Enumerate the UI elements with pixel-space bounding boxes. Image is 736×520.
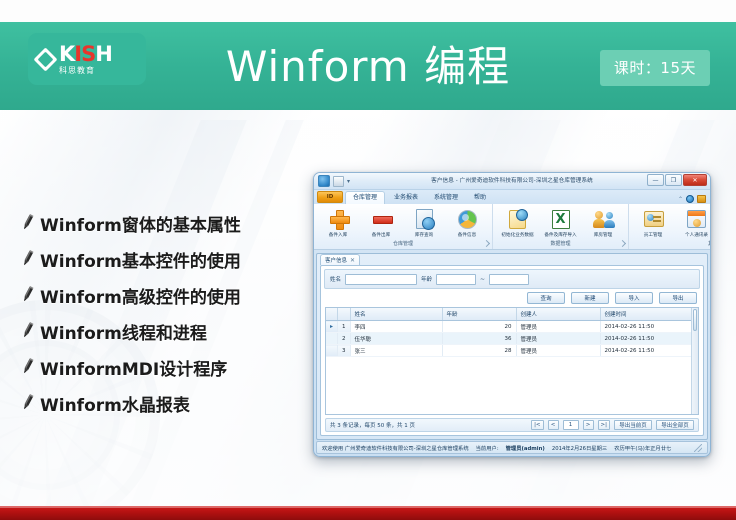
- application-menu-button[interactable]: ID: [317, 191, 343, 203]
- pencil-bullet-icon: [18, 250, 40, 268]
- ribbon-button-label: 员工管理: [644, 231, 662, 237]
- column-header-name[interactable]: 姓名: [350, 308, 442, 321]
- course-hours-badge: 课时：15天: [600, 50, 710, 86]
- last-page-button[interactable]: >|: [598, 420, 610, 430]
- list-item: Winform基本控件的使用: [18, 244, 318, 274]
- dialog-launcher-icon[interactable]: [619, 240, 626, 247]
- cell-age: 20: [442, 321, 516, 333]
- ribbon-group-data: 初始化业务数据 X 备件及库存导入 库房管理 数据管理: [492, 204, 628, 249]
- ribbon-button-label: 备件入库: [329, 231, 347, 237]
- people-icon: [593, 208, 615, 230]
- row-selector[interactable]: [326, 333, 338, 345]
- flag-icon[interactable]: [697, 195, 706, 203]
- pencil-bullet-icon: [18, 358, 40, 376]
- brand-logo-wordmark: KISH 科思教育: [59, 44, 112, 75]
- cell-created-time: 2014-02-26 11:50: [600, 333, 697, 345]
- customer-info-panel: 姓名 年龄 ~ 查询 新建 导入 导出: [320, 265, 704, 436]
- dialog-launcher-icon[interactable]: [483, 240, 490, 247]
- doc-tab-customer-info[interactable]: 客户信息 ✕: [320, 254, 360, 266]
- pencil-bullet-icon: [18, 286, 40, 304]
- ribbon-group-title: 仓库管理: [314, 239, 492, 249]
- import-button[interactable]: 导入: [615, 292, 653, 304]
- ribbon-button-label: 个人通讯录: [685, 231, 708, 237]
- row-index: 2: [338, 333, 351, 345]
- table-row[interactable]: 3 张三 28 管理员 2014-02-26 11:50: [326, 345, 698, 357]
- prev-page-button[interactable]: <: [548, 420, 559, 430]
- ribbon-right-controls[interactable]: ⌃: [678, 195, 706, 203]
- column-header-age[interactable]: 年龄: [442, 308, 516, 321]
- new-button[interactable]: 新建: [571, 292, 609, 304]
- brand-logo-subtitle: 科思教育: [59, 67, 112, 75]
- export-button[interactable]: 导出: [659, 292, 697, 304]
- table-row[interactable]: 2 伍华聪 36 管理员 2014-02-26 11:50: [326, 333, 698, 345]
- row-selector[interactable]: [326, 321, 338, 333]
- board-person-icon: [686, 208, 708, 230]
- page-number-input[interactable]: 1: [563, 420, 579, 430]
- cell-age: 36: [442, 333, 516, 345]
- pagination-bar: 共 3 条记录，每页 50 条，共 1 页 |< < 1 > >| 导出当前页 …: [325, 418, 699, 432]
- list-item: Winform高级控件的使用: [18, 280, 318, 310]
- table-row[interactable]: 1 李四 20 管理员 2014-02-26 11:50: [326, 321, 698, 333]
- ribbon-button-label: 备件出库: [372, 231, 390, 237]
- document-search-icon: [414, 208, 436, 230]
- ribbon-button-part-info[interactable]: 备件信息: [447, 206, 488, 239]
- footer-bar: [0, 506, 736, 520]
- minimize-button[interactable]: —: [647, 174, 664, 186]
- first-page-button[interactable]: |<: [531, 420, 543, 430]
- query-button[interactable]: 查询: [527, 292, 565, 304]
- row-index-header: [338, 308, 351, 321]
- status-welcome-text: 欢迎使用 广州爱奇迪软件科技有限公司-深圳之星仓库管理系统: [322, 444, 469, 452]
- ribbon-group-warehouse: 备件入库 备件出库 库存查询 备件信息 仓库管理: [314, 204, 492, 249]
- topic-label: Winform基本控件的使用: [40, 247, 241, 272]
- column-header-creator[interactable]: 创建人: [516, 308, 600, 321]
- ribbon-button-label: 库房管理: [594, 231, 612, 237]
- topic-label: Winform窗体的基本属性: [40, 211, 241, 236]
- pencil-bullet-icon: [18, 322, 40, 340]
- tab-help[interactable]: 帮助: [467, 192, 493, 204]
- doc-tab-label: 客户信息: [325, 256, 347, 264]
- close-button[interactable]: ✕: [683, 174, 707, 186]
- status-date: 2014年2月26日星期三: [552, 444, 607, 452]
- ribbon-body: 备件入库 备件出库 库存查询 备件信息 仓库管理: [314, 204, 710, 250]
- maximize-button[interactable]: ❐: [665, 174, 682, 186]
- cell-age: 28: [442, 345, 516, 357]
- close-icon[interactable]: ✕: [350, 257, 355, 264]
- search-filter-bar: 姓名 年龄 ~: [324, 269, 700, 289]
- status-lunar-date: 农历甲午(马)年正月廿七: [614, 444, 671, 452]
- cell-creator: 管理员: [516, 321, 600, 333]
- id-card-icon: [643, 208, 665, 230]
- app-status-bar: 欢迎使用 广州爱奇迪软件科技有限公司-深圳之星仓库管理系统 当前用户: 管理员(…: [316, 441, 708, 454]
- slide-canvas: Winform 编程 KISH 科思教育 课时：15天 Winform窗体的基本…: [0, 0, 736, 520]
- window-controls[interactable]: — ❐ ✕: [647, 174, 707, 186]
- cell-name: 张三: [350, 345, 442, 357]
- pencil-bullet-icon: [18, 214, 40, 232]
- note-refresh-icon: [507, 208, 529, 230]
- name-filter-input[interactable]: [345, 274, 417, 285]
- topic-label: Winform线程和进程: [40, 319, 207, 344]
- ribbon-button-label: 库存查询: [415, 231, 433, 237]
- list-item: WinformMDI设计程序: [18, 352, 318, 382]
- help-icon[interactable]: [686, 195, 694, 203]
- cell-creator: 管理员: [516, 345, 600, 357]
- cell-created-time: 2014-02-26 11:50: [600, 345, 697, 357]
- row-index: 3: [338, 345, 351, 357]
- ribbon-group-title: 其他管理: [629, 239, 711, 249]
- tab-warehouse-management[interactable]: 仓库管理: [345, 191, 385, 204]
- excel-icon: X: [550, 208, 572, 230]
- ribbon-group-other: 员工管理 个人通讯录 公共通讯录 客户管理 其他管理: [628, 204, 711, 249]
- status-user-label: 当前用户:: [476, 444, 499, 452]
- ribbon-tabstrip[interactable]: ID 仓库管理 业务报表 系统管理 帮助 ⌃: [314, 190, 710, 204]
- list-item: Winform窗体的基本属性: [18, 208, 318, 238]
- next-page-button[interactable]: >: [583, 420, 594, 430]
- cell-created-time: 2014-02-26 11:50: [600, 321, 697, 333]
- list-item: Winform水晶报表: [18, 388, 318, 418]
- status-user-value: 管理员(admin): [506, 444, 545, 452]
- ribbon-button-label: 备件信息: [458, 231, 476, 237]
- ribbon-group-title: 数据管理: [493, 239, 628, 249]
- list-item: Winform线程和进程: [18, 316, 318, 346]
- ribbon-button-import-stock[interactable]: X 备件及库存导入: [540, 206, 581, 239]
- pencil-bullet-icon: [18, 394, 40, 412]
- ribbon-button-label: 初始化业务数据: [501, 231, 533, 237]
- name-filter-label: 姓名: [330, 275, 341, 283]
- age-filter-label: 年龄: [421, 275, 432, 283]
- cell-creator: 管理员: [516, 333, 600, 345]
- customer-data-grid[interactable]: 姓名 年龄 创建人 创建时间 1 李四 20: [325, 307, 699, 415]
- column-header-created-time[interactable]: 创建时间: [600, 308, 697, 321]
- collapse-ribbon-icon[interactable]: ⌃: [678, 196, 683, 203]
- diamond-icon: [37, 51, 54, 68]
- cell-name: 李四: [350, 321, 442, 333]
- minus-icon: [371, 208, 393, 230]
- age-to-input[interactable]: [489, 274, 529, 285]
- app-window-screenshot: ▾ 客户信息 - 广州爱奇迪软件科技有限公司-深圳之星仓库管理系统 — ❐ ✕ …: [313, 172, 711, 457]
- ribbon-button-stock-out[interactable]: 备件出库: [361, 206, 402, 239]
- data-table: 姓名 年龄 创建人 创建时间 1 李四 20: [326, 308, 698, 357]
- color-ball-icon: [457, 208, 479, 230]
- ribbon-button-init-data[interactable]: 初始化业务数据: [497, 206, 538, 239]
- topic-label: Winform水晶报表: [40, 391, 190, 416]
- record-count-label: 共 3 条记录，每页 50 条，共 1 页: [330, 421, 527, 429]
- age-from-input[interactable]: [436, 274, 476, 285]
- topic-label: WinformMDI设计程序: [40, 355, 227, 380]
- app-titlebar: ▾ 客户信息 - 广州爱奇迪软件科技有限公司-深圳之星仓库管理系统 — ❐ ✕: [314, 173, 710, 190]
- resize-grip-icon[interactable]: [694, 444, 702, 452]
- brand-logo-letters: KISH: [59, 44, 112, 65]
- topic-list: Winform窗体的基本属性 Winform基本控件的使用 Winform高级控…: [18, 208, 318, 424]
- export-current-page-button[interactable]: 导出当前页: [614, 420, 652, 430]
- ribbon-button-stock-in[interactable]: 备件入库: [318, 206, 359, 239]
- row-selector-header: [326, 308, 338, 321]
- row-selector[interactable]: [326, 345, 338, 357]
- tab-business-reports[interactable]: 业务报表: [387, 192, 425, 204]
- ribbon-button-label: 备件及库存导入: [544, 231, 576, 237]
- range-separator: ~: [480, 276, 485, 283]
- cell-name: 伍华聪: [350, 333, 442, 345]
- ribbon-button-inventory-query[interactable]: 库存查询: [404, 206, 445, 239]
- tab-system-management[interactable]: 系统管理: [427, 192, 465, 204]
- row-index: 1: [338, 321, 351, 333]
- action-button-row: 查询 新建 导入 导出: [321, 292, 703, 307]
- table-header-row: 姓名 年龄 创建人 创建时间: [326, 308, 698, 321]
- ribbon-button-employee[interactable]: 员工管理: [633, 206, 674, 239]
- plus-icon: [328, 208, 350, 230]
- ribbon-button-personal-contacts[interactable]: 个人通讯录: [676, 206, 711, 239]
- slide-header: Winform 编程 KISH 科思教育 课时：15天: [0, 22, 736, 110]
- topic-label: Winform高级控件的使用: [40, 283, 241, 308]
- app-workspace: 客户信息 ✕ 姓名 年龄 ~ 查询 新建 导入 导出: [316, 253, 708, 440]
- scrollbar-thumb[interactable]: [693, 309, 697, 331]
- ribbon-button-warehouse-admin[interactable]: 库房管理: [583, 206, 624, 239]
- grid-vertical-scrollbar[interactable]: [691, 308, 698, 414]
- brand-logo: KISH 科思教育: [28, 33, 146, 85]
- export-all-pages-button[interactable]: 导出全部页: [656, 420, 694, 430]
- document-tabstrip[interactable]: 客户信息 ✕: [317, 254, 707, 265]
